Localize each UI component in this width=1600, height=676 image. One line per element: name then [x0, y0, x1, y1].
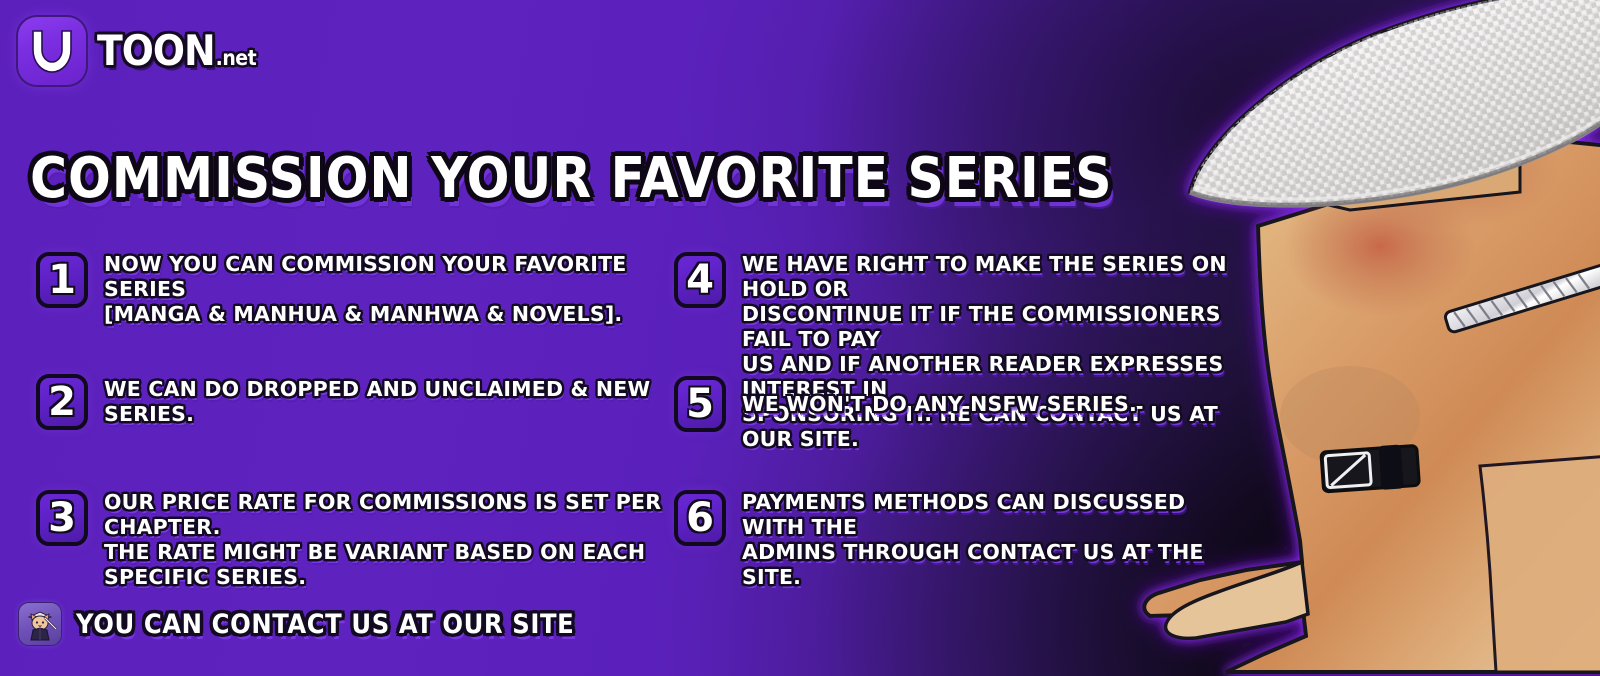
list-item-5: 5 WE WON'T DO ANY NSFW SERIES. [674, 376, 1137, 432]
samurai-cat-avatar-icon [18, 602, 62, 646]
item-number-badge: 6 [674, 490, 726, 546]
site-logo[interactable]: TOON .net [18, 17, 256, 85]
item-text: WE WON'T DO ANY NSFW SERIES. [742, 392, 1137, 417]
list-item-3: 3 OUR PRICE RATE FOR COMMISSIONS IS SET … [36, 490, 676, 590]
list-item-2: 2 WE CAN DO DROPPED AND UNCLAIMED & NEW … [36, 374, 676, 430]
item-number-badge: 4 [674, 252, 726, 308]
page-title: COMMISSION YOUR FAVORITE SERIES [30, 146, 1112, 211]
logo-tld: .net [216, 48, 256, 72]
item-number-badge: 1 [36, 252, 88, 308]
item-number-badge: 3 [36, 490, 88, 546]
list-item-6: 6 PAYMENTS METHODS CAN DISCUSSED WITH TH… [674, 490, 1244, 590]
item-number-badge: 2 [36, 374, 88, 430]
list-item-1: 1 NOW YOU CAN COMMISSION YOUR FAVORITE S… [36, 252, 676, 327]
logo-name: TOON [97, 30, 215, 72]
crescent-u-logo-icon [18, 17, 86, 85]
item-text: NOW YOU CAN COMMISSION YOUR FAVORITE SER… [104, 252, 676, 327]
item-text: WE CAN DO DROPPED AND UNCLAIMED & NEW SE… [104, 377, 676, 427]
logo-wordmark: TOON .net [97, 30, 256, 72]
item-number-badge: 5 [674, 376, 726, 432]
commission-banner: TOON .net COMMISSION YOUR FAVORITE SERIE… [0, 0, 1600, 676]
item-text: OUR PRICE RATE FOR COMMISSIONS IS SET PE… [104, 490, 676, 590]
contact-footer-text: YOU CAN CONTACT US AT OUR SITE [76, 609, 574, 640]
contact-footer[interactable]: YOU CAN CONTACT US AT OUR SITE [18, 602, 574, 646]
item-text: PAYMENTS METHODS CAN DISCUSSED WITH THE … [742, 490, 1244, 590]
